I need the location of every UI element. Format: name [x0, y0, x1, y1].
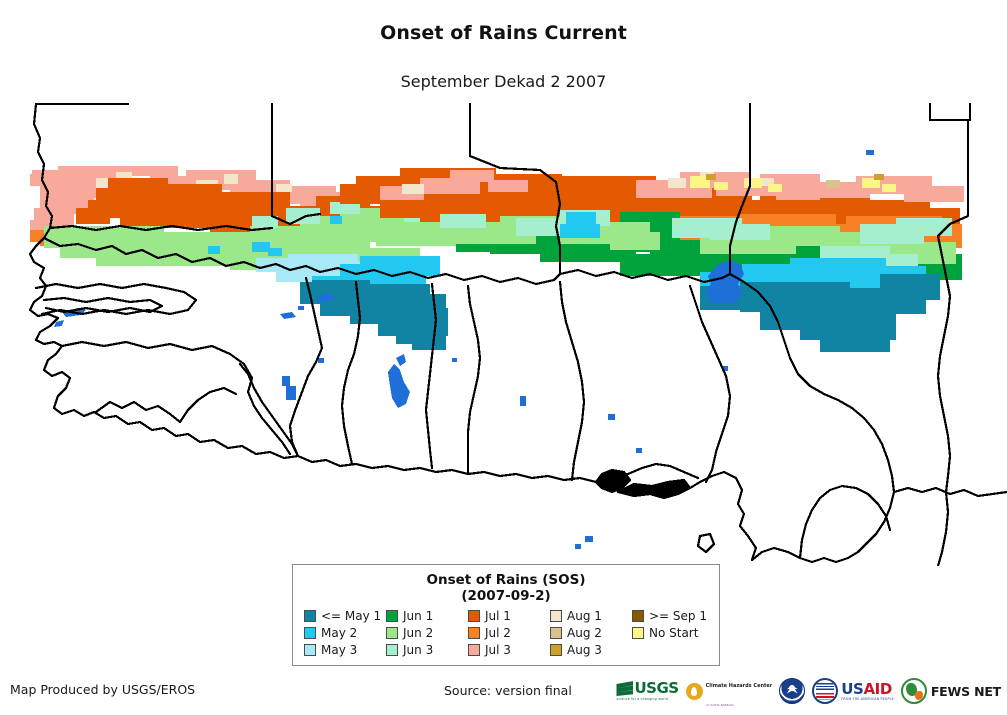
map-canvas[interactable] — [0, 96, 1007, 566]
water-drop-icon — [686, 683, 703, 700]
legend-label-jun1: Jun 1 — [403, 610, 433, 623]
legend-swatch-jun2 — [386, 627, 398, 639]
legend-entry-jun2: Jun 2 — [386, 625, 468, 641]
chc-logo-text: Climate Hazards Center — [706, 683, 773, 689]
noaa-seal-icon — [779, 678, 805, 704]
legend-column-jul: Jul 1 Jul 2 Jul 3 — [468, 608, 550, 658]
legend-swatch-jun3 — [386, 644, 398, 656]
legend-entry-may3: May 3 — [304, 642, 386, 658]
legend-swatch-jun1 — [386, 610, 398, 622]
legend-swatch-jul1 — [468, 610, 480, 622]
legend-label-jul1: Jul 1 — [485, 610, 511, 623]
legend-label-gte-sep1: >= Sep 1 — [649, 610, 707, 623]
legend-label-jul2: Jul 2 — [485, 627, 511, 640]
fews-net-logo: FEWS NET — [901, 676, 1001, 706]
legend-swatch-aug2 — [550, 627, 562, 639]
legend-swatch-gte-sep1 — [632, 610, 644, 622]
legend-label-lte-may1: <= May 1 — [321, 610, 381, 623]
legend-column-sep: >= Sep 1 No Start — [632, 608, 714, 658]
legend-label-may2: May 2 — [321, 627, 357, 640]
legend-swatch-may3 — [304, 644, 316, 656]
legend-swatch-may2 — [304, 627, 316, 639]
legend-entry-gte-sep1: >= Sep 1 — [632, 608, 714, 624]
legend-label-aug3: Aug 3 — [567, 644, 602, 657]
legend-entry-aug3: Aug 3 — [550, 642, 632, 658]
legend-columns: <= May 1 May 2 May 3 Jun 1 Jun 2 J — [293, 608, 719, 658]
legend-label-jun3: Jun 3 — [403, 644, 433, 657]
usgs-wave-icon — [616, 681, 633, 696]
page-title: Onset of Rains Current — [0, 22, 1007, 44]
legend-entry-jul2: Jul 2 — [468, 625, 550, 641]
usaid-seal-icon — [812, 678, 838, 704]
fews-globe-icon — [901, 678, 927, 704]
legend-entry-jun3: Jun 3 — [386, 642, 468, 658]
legend-entry-aug1: Aug 1 — [550, 608, 632, 624]
legend-swatch-jul3 — [468, 644, 480, 656]
legend-column-jun: Jun 1 Jun 2 Jun 3 — [386, 608, 468, 658]
sos-raster-layer — [30, 166, 964, 352]
legend-title: Onset of Rains (SOS) — [293, 572, 719, 588]
legend-label-jun2: Jun 2 — [403, 627, 433, 640]
legend-entry-jul3: Jul 3 — [468, 642, 550, 658]
legend-swatch-lte-may1 — [304, 610, 316, 622]
footer-source-text: Source: version final — [444, 683, 572, 698]
legend-entry-jun1: Jun 1 — [386, 608, 468, 624]
usgs-logo-tagline: science for a changing world — [616, 697, 667, 701]
legend-swatch-aug1 — [550, 610, 562, 622]
chc-logo-tagline: UC SANTA BARBARA — [706, 703, 734, 707]
legend-swatch-no-start — [632, 627, 644, 639]
legend-entry-no-start: No Start — [632, 625, 714, 641]
footer-producer-text: Map Produced by USGS/EROS — [10, 682, 195, 697]
legend-entry-jul1: Jul 1 — [468, 608, 550, 624]
legend-label-jul3: Jul 3 — [485, 644, 511, 657]
climate-hazards-center-logo: Climate Hazards Center UC SANTA BARBARA — [686, 676, 773, 706]
legend-entry-aug2: Aug 2 — [550, 625, 632, 641]
legend-swatch-aug3 — [550, 644, 562, 656]
legend-column-may: <= May 1 May 2 May 3 — [304, 608, 386, 658]
legend-label-no-start: No Start — [649, 627, 698, 640]
legend-column-aug: Aug 1 Aug 2 Aug 3 — [550, 608, 632, 658]
usgs-logo: USGS science for a changing world — [616, 676, 678, 706]
legend-entry-may2: May 2 — [304, 625, 386, 641]
legend-entry-lte-may1: <= May 1 — [304, 608, 386, 624]
legend-swatch-jul2 — [468, 627, 480, 639]
usgs-logo-text: USGS — [634, 681, 678, 696]
usaid-logo: USAID FROM THE AMERICAN PEOPLE — [812, 676, 894, 706]
legend-label-aug1: Aug 1 — [567, 610, 602, 623]
usaid-logo-tagline: FROM THE AMERICAN PEOPLE — [841, 697, 894, 701]
legend-label-aug2: Aug 2 — [567, 627, 602, 640]
page-subtitle: September Dekad 2 2007 — [0, 72, 1007, 91]
footer-logos: USGS science for a changing world Climat… — [616, 674, 1001, 708]
fews-logo-text: FEWS NET — [931, 684, 1001, 699]
noaa-logo — [779, 676, 805, 706]
legend-label-may3: May 3 — [321, 644, 357, 657]
map-legend: Onset of Rains (SOS) (2007-09-2) <= May … — [292, 564, 720, 666]
legend-subtitle: (2007-09-2) — [293, 588, 719, 605]
